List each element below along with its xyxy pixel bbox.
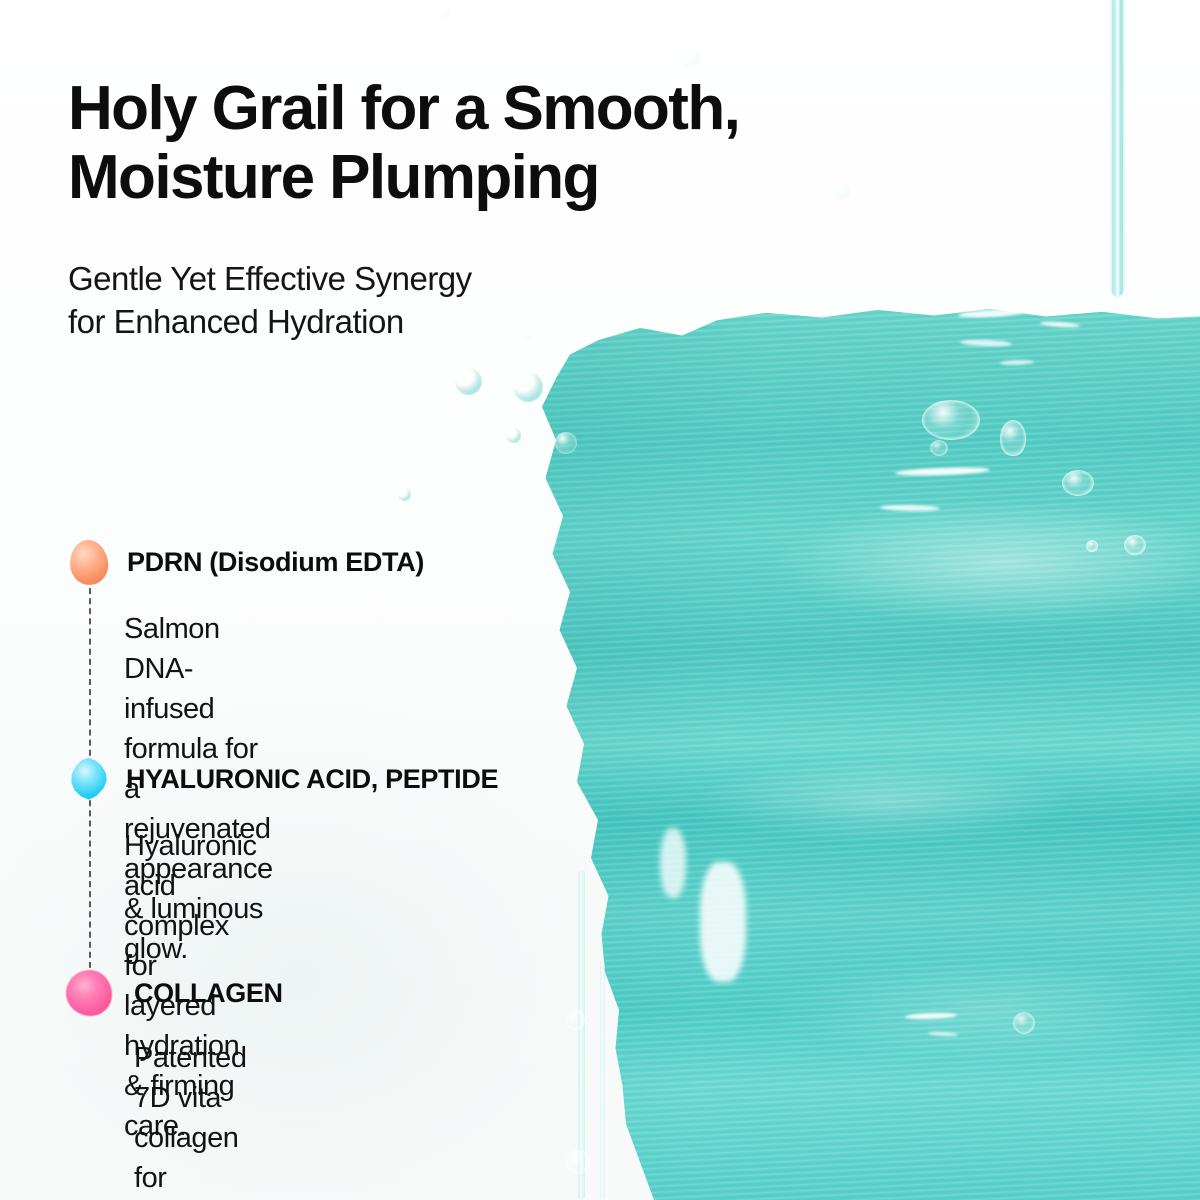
headline-line-2: Moisture Plumping <box>68 143 599 212</box>
ingredient-title: HYALURONIC ACID, PEPTIDE <box>126 764 498 795</box>
subtitle-line-2: for Enhanced Hydration <box>68 303 404 340</box>
headline-line-1: Holy Grail for a Smooth, <box>68 74 739 143</box>
ingredient-body-line-1: Hyaluronic acid complex for <box>124 830 257 982</box>
ingredient-body-line-1: Patented 7D vita collagen for <box>134 1042 247 1194</box>
pink-blob-icon <box>66 970 112 1016</box>
product-infographic: Holy Grail for a Smooth, Moisture Plumpi… <box>0 0 1200 1200</box>
water-crystal-icon <box>68 757 110 801</box>
subtitle: Gentle Yet Effective Synergy for Enhance… <box>68 258 688 344</box>
ingredient-body-line-1: Salmon DNA-infused formula for <box>124 613 258 765</box>
ingredient-title: COLLAGEN <box>134 978 283 1009</box>
ingredient-title: PDRN (Disodium EDTA) <box>127 547 424 578</box>
salmon-oval-icon <box>68 538 110 587</box>
subtitle-line-1: Gentle Yet Effective Synergy <box>68 260 472 297</box>
text-overlay: Holy Grail for a Smooth, Moisture Plumpi… <box>0 0 1200 1200</box>
page-title: Holy Grail for a Smooth, Moisture Plumpi… <box>68 74 968 213</box>
